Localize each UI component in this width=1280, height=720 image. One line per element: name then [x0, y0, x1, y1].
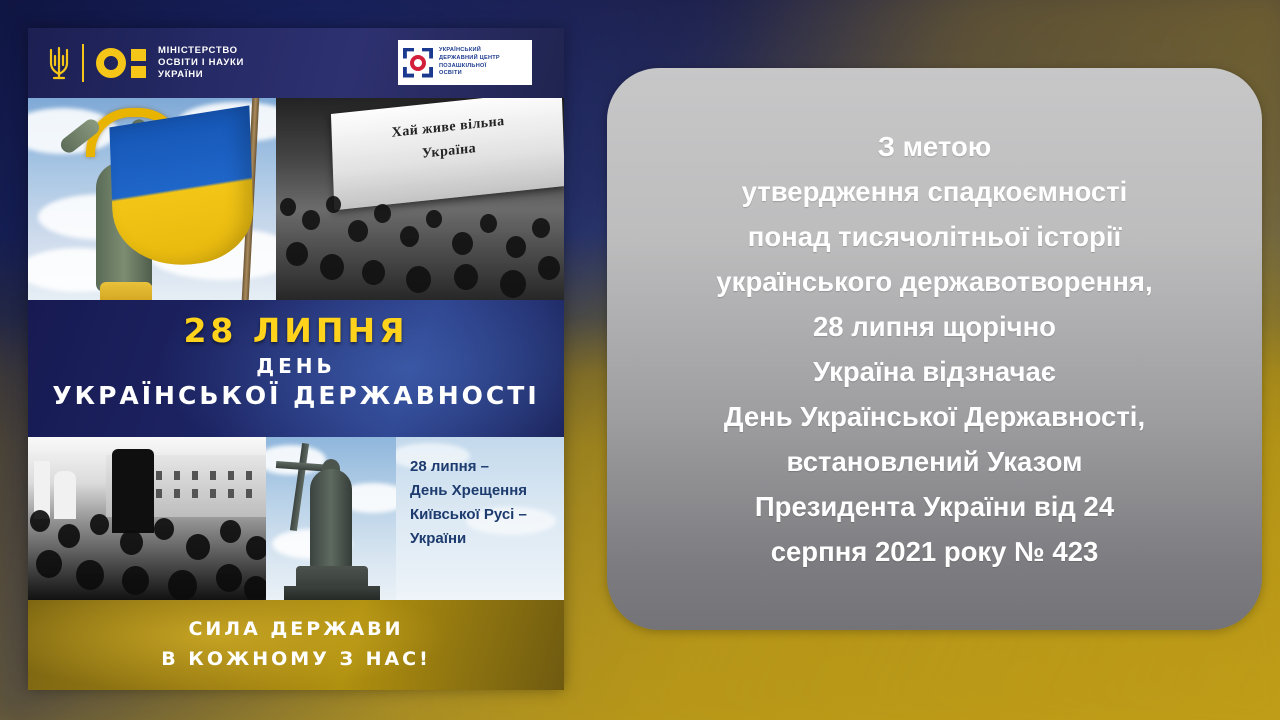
ministry-logo: МІНІСТЕРСТВО ОСВІТИ І НАУКИ УКРАЇНИ [48, 43, 244, 83]
text-panel: З метою утвердження спадкоємності понад … [607, 68, 1262, 630]
center-line-3: ПОЗАШКІЛЬНОЇ [439, 63, 500, 71]
ministry-line-1: МІНІСТЕРСТВО [158, 45, 244, 57]
photo-kyiv-crowd [28, 437, 266, 600]
slogan-line-2: В КОЖНОМУ З НАС! [28, 644, 564, 674]
center-line-2: ДЕРЖАВНИЙ ЦЕНТР [439, 55, 500, 63]
caption-line-4: України [410, 527, 556, 551]
ministry-line-2: ОСВІТИ І НАУКИ [158, 57, 244, 69]
caption-line-3: Київської Русі – [410, 503, 556, 527]
poster-date: 28 ЛИПНЯ [28, 312, 564, 350]
crowd-texture [28, 480, 266, 600]
udcpo-frame-circle-icon [403, 48, 433, 78]
slogan-line-1: СИЛА ДЕРЖАВИ [28, 614, 564, 644]
photo-caption-block: 28 липня – День Хрещення Київської Русі … [396, 437, 564, 600]
poster-top-photo-row: Хай живе вільна Україна [28, 98, 564, 300]
poster-slogan-band: СИЛА ДЕРЖАВИ В КОЖНОМУ З НАС! [28, 600, 564, 690]
rally-banner-text: Хай живе вільна Україна [353, 106, 544, 174]
poster-image: МІНІСТЕРСТВО ОСВІТИ І НАУКИ УКРАЇНИ УКРА… [28, 28, 564, 690]
poster-title-band: 28 ЛИПНЯ ДЕНЬ УКРАЇНСЬКОЇ ДЕРЖАВНОСТІ [28, 300, 564, 437]
ministry-line-3: УКРАЇНИ [158, 69, 244, 81]
poster-title-line-2: УКРАЇНСЬКОЇ ДЕРЖАВНОСТІ [28, 380, 564, 412]
logo-divider [82, 44, 84, 82]
caption-line-2: День Хрещення [410, 479, 556, 503]
photo-volodymyr-monument [266, 437, 396, 600]
slide-canvas: МІНІСТЕРСТВО ОСВІТИ І НАУКИ УКРАЇНИ УКРА… [0, 0, 1280, 720]
center-line-1: УКРАЇНСЬКИЙ [439, 47, 500, 55]
ukraine-trident-icon [48, 43, 70, 83]
panel-body-text: З метою утвердження спадкоємності понад … [627, 124, 1243, 574]
poster-bottom-photo-row: 28 липня – День Хрещення Київської Русі … [28, 437, 564, 600]
photo-monument-flag [28, 98, 276, 300]
poster-title-line-1: ДЕНЬ [28, 352, 564, 380]
crowd-texture [276, 180, 564, 300]
photo-historic-rally: Хай живе вільна Україна [276, 98, 564, 300]
mon-o-mark-icon [96, 48, 146, 78]
center-logo-text: УКРАЇНСЬКИЙ ДЕРЖАВНИЙ ЦЕНТР ПОЗАШКІЛЬНОЇ… [439, 47, 500, 77]
ministry-logo-text: МІНІСТЕРСТВО ОСВІТИ І НАУКИ УКРАЇНИ [158, 45, 244, 81]
center-logo: УКРАЇНСЬКИЙ ДЕРЖАВНИЙ ЦЕНТР ПОЗАШКІЛЬНОЇ… [398, 40, 532, 85]
poster-header: МІНІСТЕРСТВО ОСВІТИ І НАУКИ УКРАЇНИ УКРА… [28, 28, 564, 98]
caption-line-1: 28 липня – [410, 455, 556, 479]
center-line-4: ОСВІТИ [439, 70, 500, 78]
caption-text: 28 липня – День Хрещення Київської Русі … [410, 455, 556, 551]
